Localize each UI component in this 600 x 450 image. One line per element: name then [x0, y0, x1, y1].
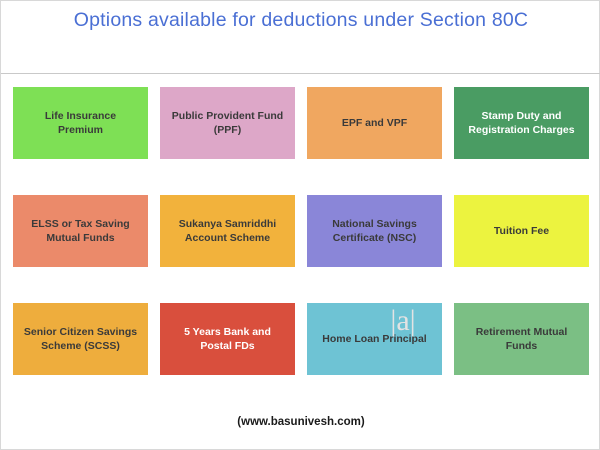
- source-credit: (www.basunivesh.com): [1, 416, 600, 428]
- option-card: 5 Years Bank and Postal FDs: [160, 303, 295, 375]
- page-title: Options available for deductions under S…: [1, 7, 600, 33]
- option-card: ELSS or Tax Saving Mutual Funds: [13, 195, 148, 267]
- option-card: Sukanya Samriddhi Account Scheme: [160, 195, 295, 267]
- option-card: Retirement Mutual Funds: [454, 303, 589, 375]
- option-card: Life Insurance Premium: [13, 87, 148, 159]
- options-row: Life Insurance Premium Public Provident …: [13, 87, 589, 159]
- options-row: ELSS or Tax Saving Mutual Funds Sukanya …: [13, 195, 589, 267]
- option-card: Senior Citizen Savings Scheme (SCSS): [13, 303, 148, 375]
- watermark-logo: |a|: [379, 301, 427, 341]
- option-card: National Savings Certificate (NSC): [307, 195, 442, 267]
- title-divider: [1, 73, 600, 74]
- infographic-page: Options available for deductions under S…: [0, 0, 600, 450]
- options-row: Senior Citizen Savings Scheme (SCSS) 5 Y…: [13, 303, 589, 375]
- option-card: Tuition Fee: [454, 195, 589, 267]
- option-card: EPF and VPF: [307, 87, 442, 159]
- options-grid: Life Insurance Premium Public Provident …: [13, 87, 589, 375]
- option-card: Public Provident Fund (PPF): [160, 87, 295, 159]
- option-card: Stamp Duty and Registration Charges: [454, 87, 589, 159]
